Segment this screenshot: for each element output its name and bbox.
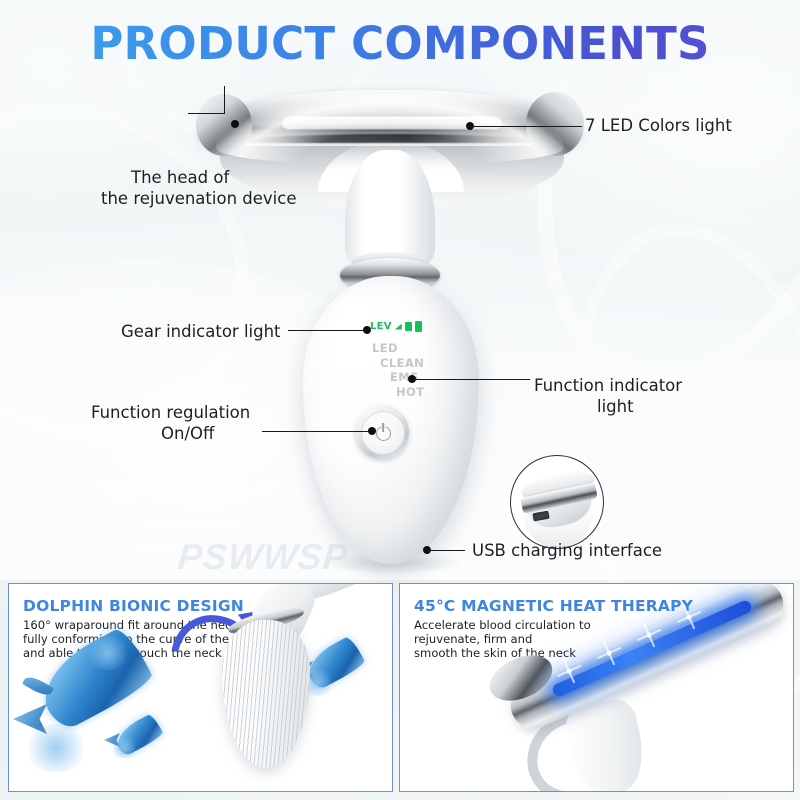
- level-bar-2: [415, 321, 422, 332]
- product-illustration: LEV LED CLEAN EMS HOT PSWWSP: [0, 0, 800, 580]
- watermark: PSWWSP: [176, 536, 350, 578]
- feature-panel-dolphin-bionic-design: DOLPHIN BIONIC DESIGN 160° wraparound fi…: [8, 583, 393, 792]
- function-indicator-light: LED CLEAN EMS HOT: [368, 341, 458, 399]
- leader-line-led-colors: [470, 126, 582, 127]
- dolphin-right: [306, 646, 362, 680]
- callout-usb-charging: USB charging interface: [472, 540, 662, 561]
- dolphin-small: [115, 722, 161, 748]
- gear-indicator-light: LEV: [370, 321, 422, 332]
- leader-line-gear-indicator: [288, 330, 366, 331]
- callout-device-head-line2: the rejuvenation device: [101, 188, 296, 209]
- dolphin-large: [39, 646, 147, 712]
- level-bar-1: [405, 322, 412, 331]
- leader-line-function-indicator: [412, 379, 530, 380]
- function-label-ems: EMS: [390, 370, 458, 385]
- usb-charging-inset: [510, 455, 604, 549]
- device-head-right-end: [526, 92, 584, 156]
- leader-dot-function-regulation: [368, 427, 376, 435]
- heat-therapy-device: [478, 592, 794, 792]
- leader-line-function-regulation: [262, 431, 372, 432]
- leader-line-device-head-horizontal: [188, 113, 225, 114]
- feature-panel-title: DOLPHIN BIONIC DESIGN: [23, 597, 244, 615]
- leader-line-device-head-vertical: [224, 86, 225, 114]
- callout-function-regulation-line2: On/Off: [161, 423, 214, 444]
- panel-device-body: [222, 620, 310, 768]
- callout-function-regulation-line1: Function regulation: [91, 402, 250, 423]
- callout-function-indicator-line1: Function indicator: [534, 375, 682, 396]
- power-icon: [376, 426, 391, 441]
- level-bar-0: [395, 324, 402, 330]
- function-label-hot: HOT: [396, 385, 458, 400]
- heat-device-led-glow: [551, 599, 754, 699]
- leader-dot-device-head: [231, 120, 239, 128]
- callout-device-head-line1: The head of: [131, 167, 229, 188]
- callout-led-colors: 7 LED Colors light: [585, 115, 732, 136]
- panel-device-ribs: [222, 620, 310, 768]
- dolphin-splash: [21, 724, 91, 772]
- dolphin-splash-top: [85, 636, 131, 670]
- level-label: LEV: [370, 321, 392, 332]
- dolphin-splash: [109, 738, 139, 758]
- function-label-clean: CLEAN: [380, 356, 458, 371]
- callout-function-indicator-line2: light: [597, 396, 634, 417]
- leader-dot-gear-indicator: [363, 326, 371, 334]
- leader-line-usb-charging: [427, 550, 465, 551]
- callout-gear-indicator: Gear indicator light: [121, 321, 281, 342]
- function-label-led: LED: [372, 341, 458, 356]
- feature-panel-magnetic-heat-therapy: 45°C MAGNETIC HEAT THERAPY Accelerate bl…: [399, 583, 794, 792]
